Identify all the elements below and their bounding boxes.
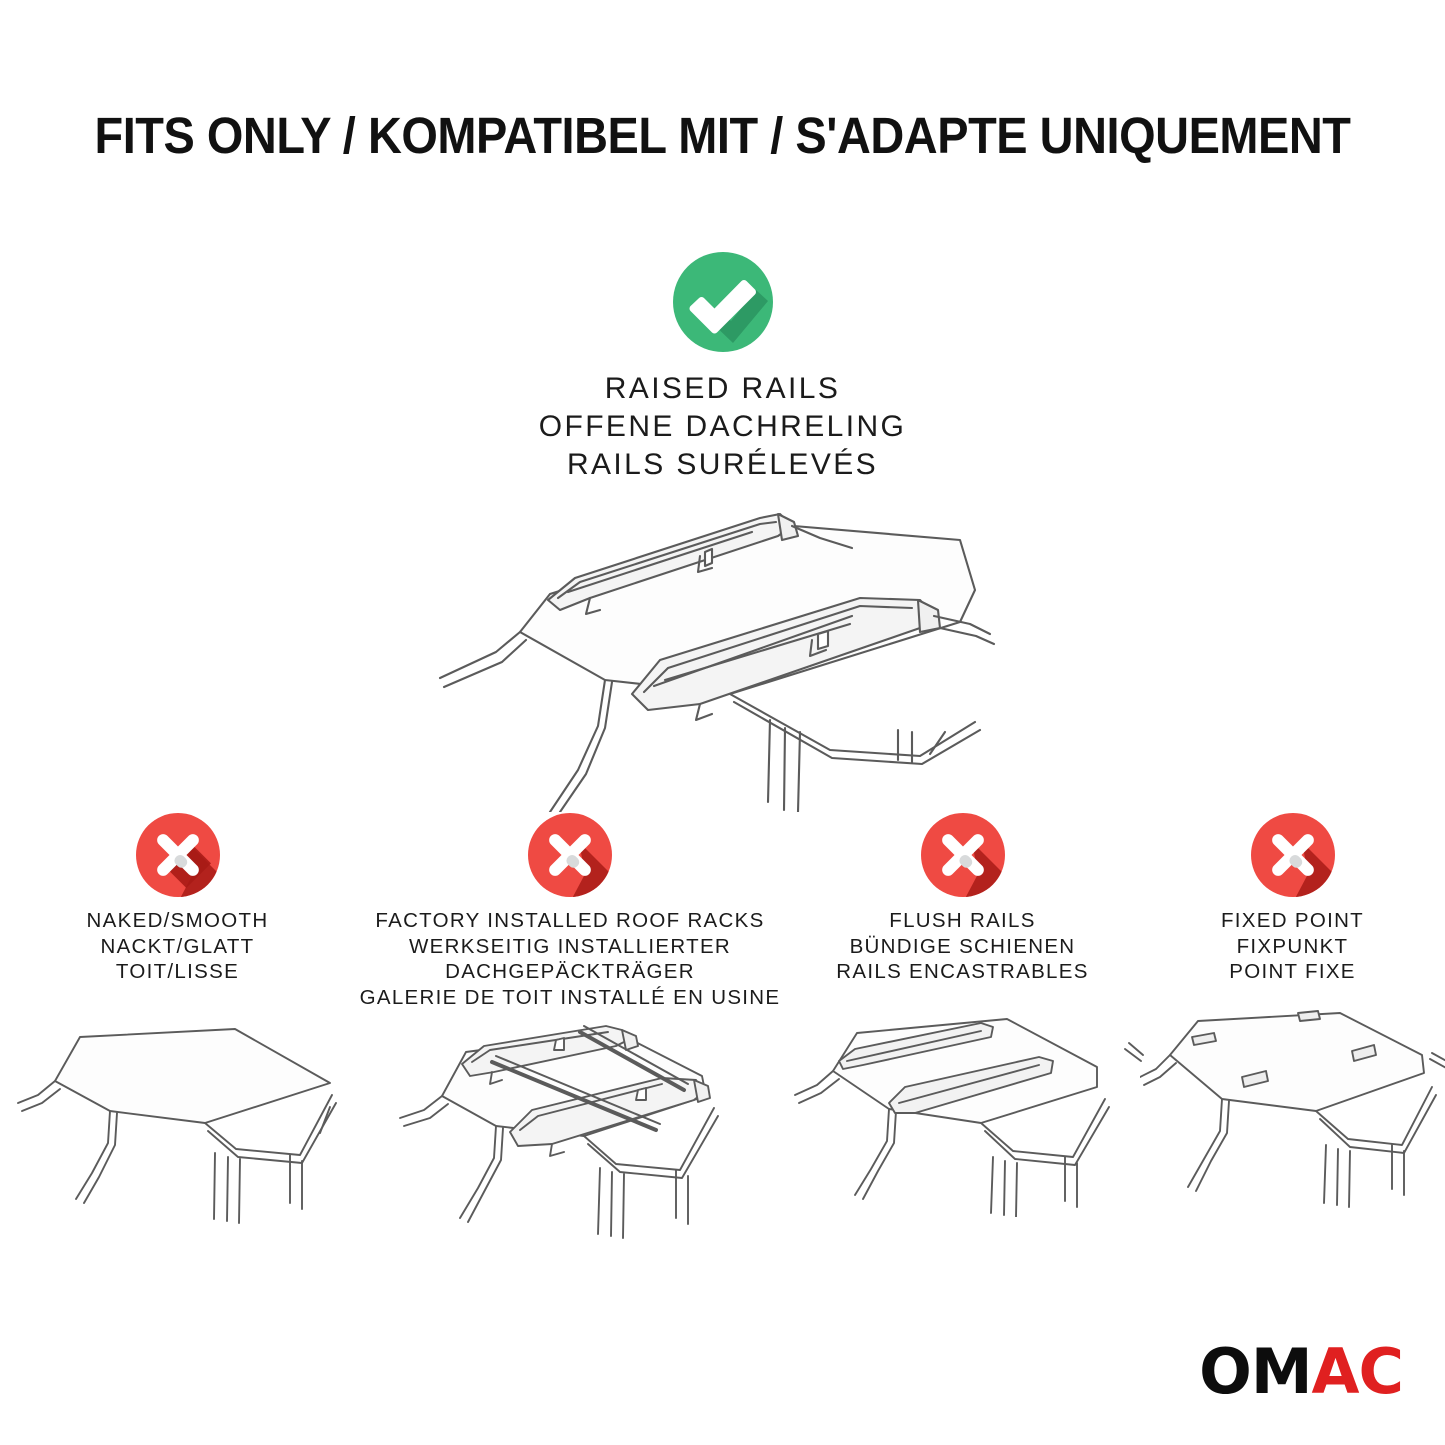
page-title: FITS ONLY / KOMPATIBEL MIT / S'ADAPTE UN… [58, 106, 1387, 165]
compatible-section: RAISED RAILS OFFENE DACHRELING RAILS SUR… [0, 250, 1445, 484]
fitment-infographic: FITS ONLY / KOMPATIBEL MIT / S'ADAPTE UN… [0, 0, 1445, 1445]
car-roof-raised-rails-illustration [400, 482, 1060, 812]
omac-logo: OMAC [1199, 1341, 1403, 1403]
cross-circle-icon [920, 812, 1006, 898]
incompatible-item-factory-racks: FACTORY INSTALLED ROOF RACKS WERKSEITIG … [355, 812, 785, 1244]
label-line-de: FIXPUNKT [1140, 934, 1445, 960]
incompatible-row: NAKED/SMOOTH NACKT/GLATT TOIT/LISSE [0, 812, 1445, 1244]
cross-circle-icon [135, 812, 221, 898]
car-roof-fixed-point-illustration [1140, 1007, 1445, 1219]
cross-circle-icon [1250, 812, 1336, 898]
incompatible-item-flush-rails: FLUSH RAILS BÜNDIGE SCHIENEN RAILS ENCAS… [785, 812, 1140, 1217]
label-line-en: FIXED POINT [1140, 908, 1445, 934]
label-line-fr: RAILS ENCASTRABLES [785, 959, 1140, 985]
incompatible-label-fixed-point: FIXED POINT FIXPUNKT POINT FIXE [1140, 908, 1445, 985]
car-roof-flush-rails-illustration [785, 1005, 1145, 1217]
car-roof-factory-roof-racks-illustration [384, 1012, 756, 1244]
label-line-en: FACTORY INSTALLED ROOF RACKS [355, 908, 785, 934]
compatible-label-line-fr: RAILS SURÉLEVÉS [0, 446, 1445, 484]
incompatible-item-fixed-point: FIXED POINT FIXPUNKT POINT FIXE [1140, 812, 1445, 1219]
incompatible-label-flush-rails: FLUSH RAILS BÜNDIGE SCHIENEN RAILS ENCAS… [785, 908, 1140, 985]
incompatible-label-naked-smooth: NAKED/SMOOTH NACKT/GLATT TOIT/LISSE [0, 908, 355, 985]
label-line-en: NAKED/SMOOTH [0, 908, 355, 934]
label-line-fr: TOIT/LISSE [0, 959, 355, 985]
incompatible-item-naked-smooth: NAKED/SMOOTH NACKT/GLATT TOIT/LISSE [0, 812, 355, 1225]
compatible-label-line-en: RAISED RAILS [0, 370, 1445, 408]
compatible-label-line-de: OFFENE DACHRELING [0, 408, 1445, 446]
label-line-de-1: WERKSEITIG INSTALLIERTER [355, 934, 785, 960]
cross-circle-icon [527, 812, 613, 898]
label-line-de-2: DACHGEPÄCKTRÄGER [355, 959, 785, 985]
compatible-label: RAISED RAILS OFFENE DACHRELING RAILS SUR… [0, 370, 1445, 484]
logo-text-black: OM [1199, 1335, 1311, 1408]
label-line-fr: POINT FIXE [1140, 959, 1445, 985]
label-line-de: NACKT/GLATT [0, 934, 355, 960]
label-line-en: FLUSH RAILS [785, 908, 1140, 934]
label-line-fr: GALERIE DE TOIT INSTALLÉ EN USINE [355, 985, 785, 1011]
label-line-de: BÜNDIGE SCHIENEN [785, 934, 1140, 960]
incompatible-label-factory-racks: FACTORY INSTALLED ROOF RACKS WERKSEITIG … [355, 908, 785, 1010]
check-circle-icon [671, 250, 775, 354]
logo-text-red: AC [1312, 1335, 1403, 1408]
car-roof-naked-smooth-illustration [0, 1003, 360, 1225]
